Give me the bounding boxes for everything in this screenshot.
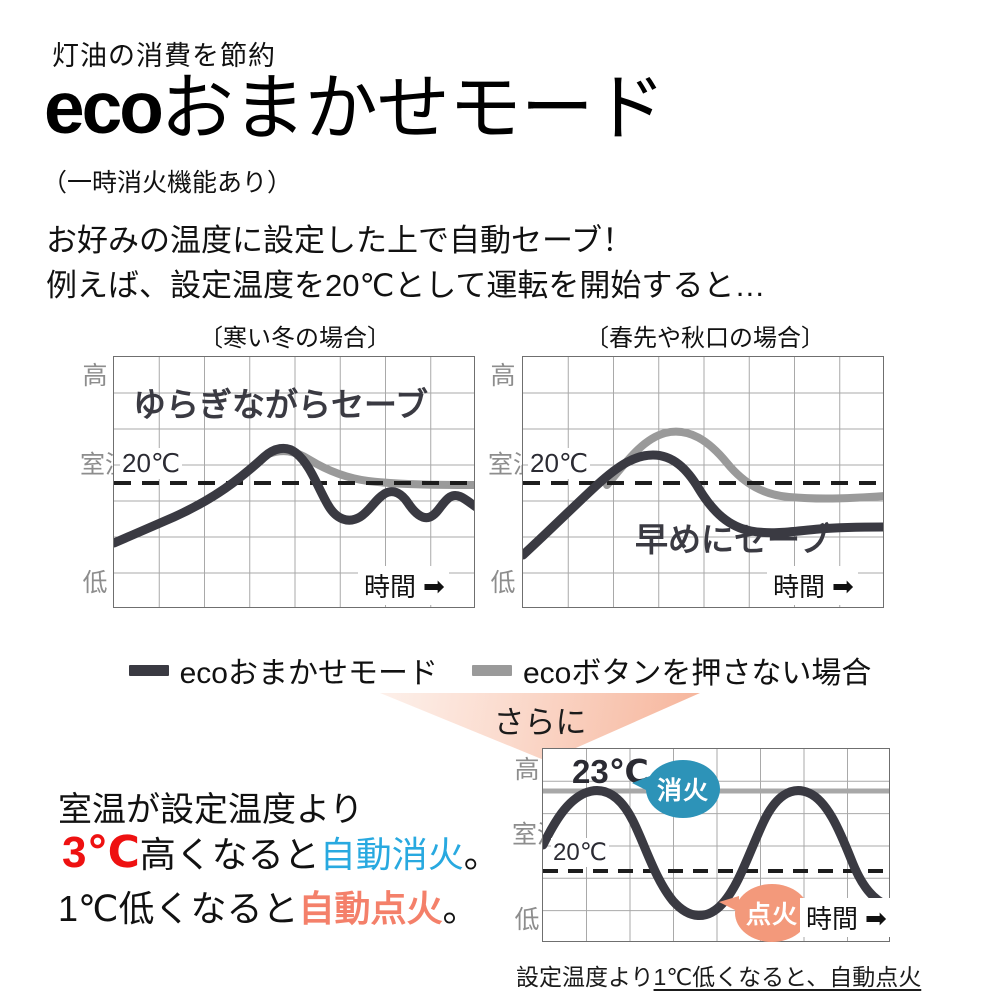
time-axis-bottom: 時間 ➡ — [800, 898, 891, 937]
bottom-copy-line-2-mid: 高くなると — [140, 834, 320, 875]
subtitle-note: （一時消火機能あり） — [42, 163, 292, 199]
bottom-copy-line-1: 室温が設定温度より — [58, 782, 363, 831]
page-title-rest: おまかせモード — [161, 68, 665, 149]
legend-label-no-eco: ecoボタンを押さない場合 — [523, 648, 871, 692]
legend-item-no-eco: ecoボタンを押さない場合 — [472, 648, 871, 692]
axis-label-low-left: 低 — [80, 570, 110, 596]
bottom-copy-line-3-end: 。 — [442, 888, 478, 929]
setpoint-label-bottom: 20℃ — [551, 838, 609, 867]
axis-label-high-bottom: 高 — [512, 757, 542, 783]
chart-title-cold-winter: 〔寒い冬の場合〕 — [115, 318, 475, 353]
axis-label-room-bottom: 室温 — [512, 822, 542, 848]
chart-annotation-hayame: 早めにセーブ — [635, 513, 831, 561]
sarani-label: さらに — [380, 697, 700, 742]
time-label-right: 時間 — [773, 567, 825, 604]
chart-title-spring-autumn: 〔春先や秋口の場合〕 — [525, 318, 885, 353]
arrow-right-icon-left: ➡ — [423, 573, 445, 599]
bubble-tail-icon — [719, 896, 739, 912]
chart-legend: ecoおまかせモード ecoボタンを押さない場合 — [0, 648, 1000, 692]
time-axis-right: 時間 ➡ — [767, 566, 858, 605]
time-axis-left: 時間 ➡ — [358, 566, 449, 605]
threshold-3-unit: ℃ — [86, 828, 139, 877]
bottom-caption: 設定温度より1℃低くなると、自動点火 — [516, 958, 921, 992]
axis-label-high-left: 高 — [80, 363, 110, 389]
arrow-right-icon-bottom: ➡ — [865, 905, 887, 931]
setpoint-label-right: 20℃ — [528, 448, 590, 479]
bottom-caption-prefix: 設定温度より — [516, 964, 654, 990]
bubble-ignite-label: 点火 — [746, 895, 798, 931]
axis-label-high-right: 高 — [488, 363, 518, 389]
bottom-copy-line-3: 1℃低くなると自動点火。 — [58, 880, 478, 932]
axis-label-low-bottom: 低 — [512, 907, 542, 933]
axis-label-room-left: 室温 — [80, 452, 110, 478]
time-label-bottom: 時間 — [806, 899, 858, 936]
legend-line-dark-icon — [129, 665, 169, 676]
auto-ignite-highlight: 自動点火 — [298, 888, 442, 929]
axis-label-room-right: 室温 — [488, 452, 518, 478]
legend-label-eco-mode: ecoおまかせモード — [180, 648, 438, 692]
bottom-caption-underlined: 1℃低くなると、自動点火 — [654, 964, 922, 990]
bubble-extinguish-label: 消火 — [657, 771, 709, 807]
bubble-tail-icon — [632, 776, 650, 792]
bottom-copy-line-3-start: 1℃低くなると — [58, 888, 298, 929]
setpoint-label-left: 20℃ — [120, 448, 182, 479]
legend-line-gray-icon — [472, 665, 512, 676]
arrow-right-icon-right: ➡ — [832, 573, 854, 599]
time-label-left: 時間 — [364, 567, 416, 604]
chart-annotation-yuragi: ゆらぎながらセーブ — [133, 378, 428, 426]
bottom-copy-line-2: 3℃高くなると自動消火。 — [62, 826, 500, 878]
page-title: ecoおまかせモード — [44, 72, 665, 145]
legend-item-eco-mode: ecoおまかせモード — [129, 648, 438, 692]
lead-line-1: お好みの温度に設定した上で自動セーブ！ — [46, 215, 633, 260]
bubble-ignite[interactable]: 点火 — [735, 884, 809, 942]
bottom-copy-line-2-end: 。 — [464, 834, 500, 875]
page-title-eco: eco — [44, 68, 161, 149]
bubble-extinguish[interactable]: 消火 — [646, 760, 720, 818]
auto-extinguish-highlight: 自動消火 — [320, 834, 464, 875]
threshold-3-value: 3 — [62, 828, 86, 877]
axis-label-low-right: 低 — [488, 570, 518, 596]
lead-line-2: 例えば、設定温度を20℃として運転を開始すると… — [46, 260, 765, 305]
